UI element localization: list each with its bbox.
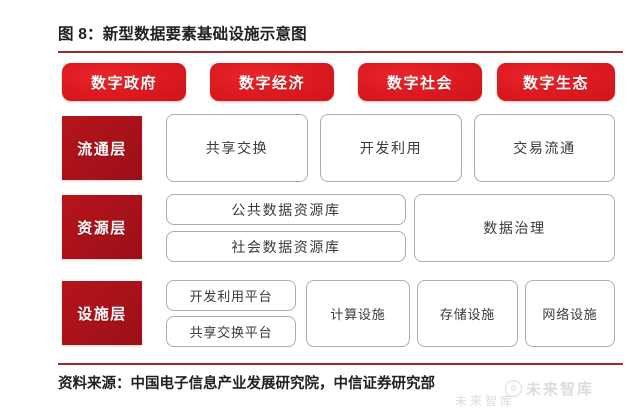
layer-label-resource: 资源层 bbox=[62, 195, 142, 259]
card-label: 公共数据资源库 bbox=[231, 200, 340, 220]
card-label: 交易流通 bbox=[513, 138, 575, 158]
top-item-digital-government[interactable]: 数字政府 bbox=[62, 63, 186, 101]
card-network-facility[interactable]: 网络设施 bbox=[525, 280, 615, 347]
top-item-label: 数字政府 bbox=[91, 72, 157, 93]
card-label: 共享交换平台 bbox=[190, 322, 273, 341]
card-storage-facility[interactable]: 存储设施 bbox=[417, 280, 518, 347]
watermark: ⊚ 未来智库 bbox=[505, 378, 594, 399]
top-item-digital-ecology[interactable]: 数字生态 bbox=[497, 63, 615, 101]
watermark-text: 未来智库 bbox=[526, 378, 594, 399]
card-label: 开发利用平台 bbox=[190, 286, 273, 305]
top-item-digital-society[interactable]: 数字社会 bbox=[358, 63, 482, 101]
card-development-utilization-platform[interactable]: 开发利用平台 bbox=[166, 280, 296, 311]
card-label: 社会数据资源库 bbox=[231, 237, 340, 257]
figure-title: 图 8：新型数据要素基础设施示意图 bbox=[58, 22, 307, 44]
card-label: 计算设施 bbox=[330, 304, 385, 323]
card-label: 存储设施 bbox=[440, 304, 495, 323]
card-public-data-repository[interactable]: 公共数据资源库 bbox=[166, 194, 406, 225]
card-data-governance[interactable]: 数据治理 bbox=[414, 194, 615, 262]
top-item-label: 数字生态 bbox=[523, 72, 589, 93]
watermark-faint: 未来智库 bbox=[455, 392, 515, 409]
card-label: 开发利用 bbox=[360, 138, 422, 158]
source-divider bbox=[58, 363, 623, 365]
layer-label-text: 设施层 bbox=[77, 303, 127, 324]
card-shared-exchange[interactable]: 共享交换 bbox=[166, 114, 308, 182]
layer-label-text: 资源层 bbox=[77, 217, 127, 238]
card-transaction-circulation[interactable]: 交易流通 bbox=[474, 114, 615, 182]
figure-source: 资料来源：中国电子信息产业发展研究院，中信证券研究部 bbox=[58, 372, 435, 393]
title-divider bbox=[58, 51, 623, 53]
card-social-data-repository[interactable]: 社会数据资源库 bbox=[166, 231, 406, 262]
watermark-logo-icon: ⊚ bbox=[505, 380, 522, 397]
card-label: 数据治理 bbox=[483, 218, 545, 238]
card-shared-exchange-platform[interactable]: 共享交换平台 bbox=[166, 316, 296, 347]
card-label: 网络设施 bbox=[542, 304, 597, 323]
top-item-label: 数字经济 bbox=[239, 72, 305, 93]
layer-label-circulation: 流通层 bbox=[62, 116, 142, 180]
layer-label-text: 流通层 bbox=[77, 138, 127, 159]
card-development-utilization[interactable]: 开发利用 bbox=[320, 114, 462, 182]
top-item-label: 数字社会 bbox=[387, 72, 453, 93]
card-computing-facility[interactable]: 计算设施 bbox=[306, 280, 410, 347]
card-label: 共享交换 bbox=[206, 138, 268, 158]
top-item-digital-economy[interactable]: 数字经济 bbox=[210, 63, 334, 101]
layer-label-infrastructure: 设施层 bbox=[62, 281, 142, 345]
figure-container: 图 8：新型数据要素基础设施示意图 数字政府 数字经济 数字社会 数字生态 流通… bbox=[0, 0, 640, 412]
